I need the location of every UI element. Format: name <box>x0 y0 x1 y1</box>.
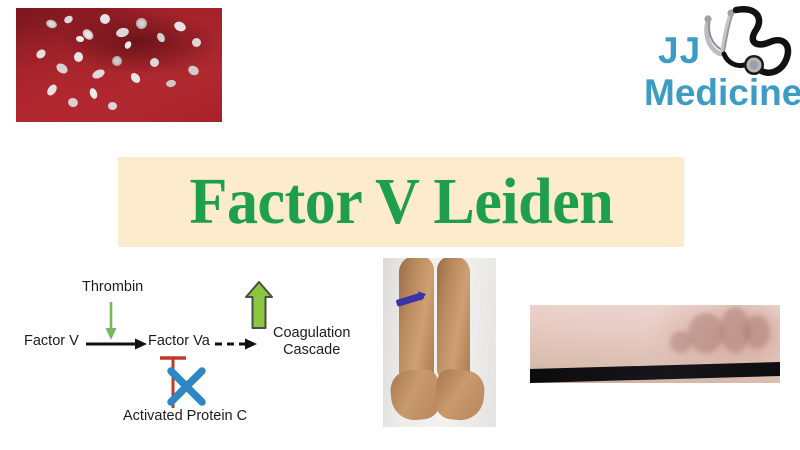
increase-arrow-icon <box>246 282 272 328</box>
vein-bulge <box>670 331 692 353</box>
video-thumbnail: JJ Medicine Factor V Leiden <box>0 0 800 450</box>
superficial-vein-photo <box>530 305 780 383</box>
logo-text-medicine: Medicine <box>644 74 800 111</box>
diagram-label-thrombin: Thrombin <box>82 279 143 296</box>
factor-v-leiden-pathway-diagram: Factor V Thrombin Factor Va Coagulation … <box>10 268 380 440</box>
red-blood-cell <box>108 102 117 110</box>
brand-logo: JJ Medicine <box>640 4 798 124</box>
page-title: Factor V Leiden <box>189 169 613 235</box>
diagram-label-factor-v: Factor V <box>24 333 79 350</box>
red-blood-cell <box>150 58 159 67</box>
vein-bulge <box>688 313 724 353</box>
red-blood-cell <box>74 52 83 62</box>
red-blood-cell <box>112 56 122 66</box>
red-blood-cell <box>100 14 110 24</box>
right-leg <box>437 258 470 380</box>
vein-bulge <box>744 315 770 349</box>
thrombin-arrow-icon <box>106 302 117 340</box>
logo-text-jj: JJ <box>658 32 701 69</box>
red-blood-cell <box>192 38 201 47</box>
cascade-line-1: Coagulation <box>273 325 350 342</box>
title-banner: Factor V Leiden <box>118 157 684 247</box>
red-blood-cell <box>136 18 147 29</box>
diagram-label-activated-protein-c: Activated Protein C <box>123 408 247 425</box>
diagram-label-coagulation-cascade: Coagulation Cascade <box>273 325 350 358</box>
cross-out-icon <box>171 371 202 402</box>
dashed-arrow-icon <box>215 339 257 350</box>
conversion-arrow-icon <box>86 339 147 350</box>
swollen-legs-photo <box>383 258 496 427</box>
left-leg <box>399 258 434 382</box>
red-blood-cells-photo <box>16 8 222 122</box>
cascade-line-2: Cascade <box>273 342 350 359</box>
diagram-label-factor-va: Factor Va <box>148 333 210 350</box>
